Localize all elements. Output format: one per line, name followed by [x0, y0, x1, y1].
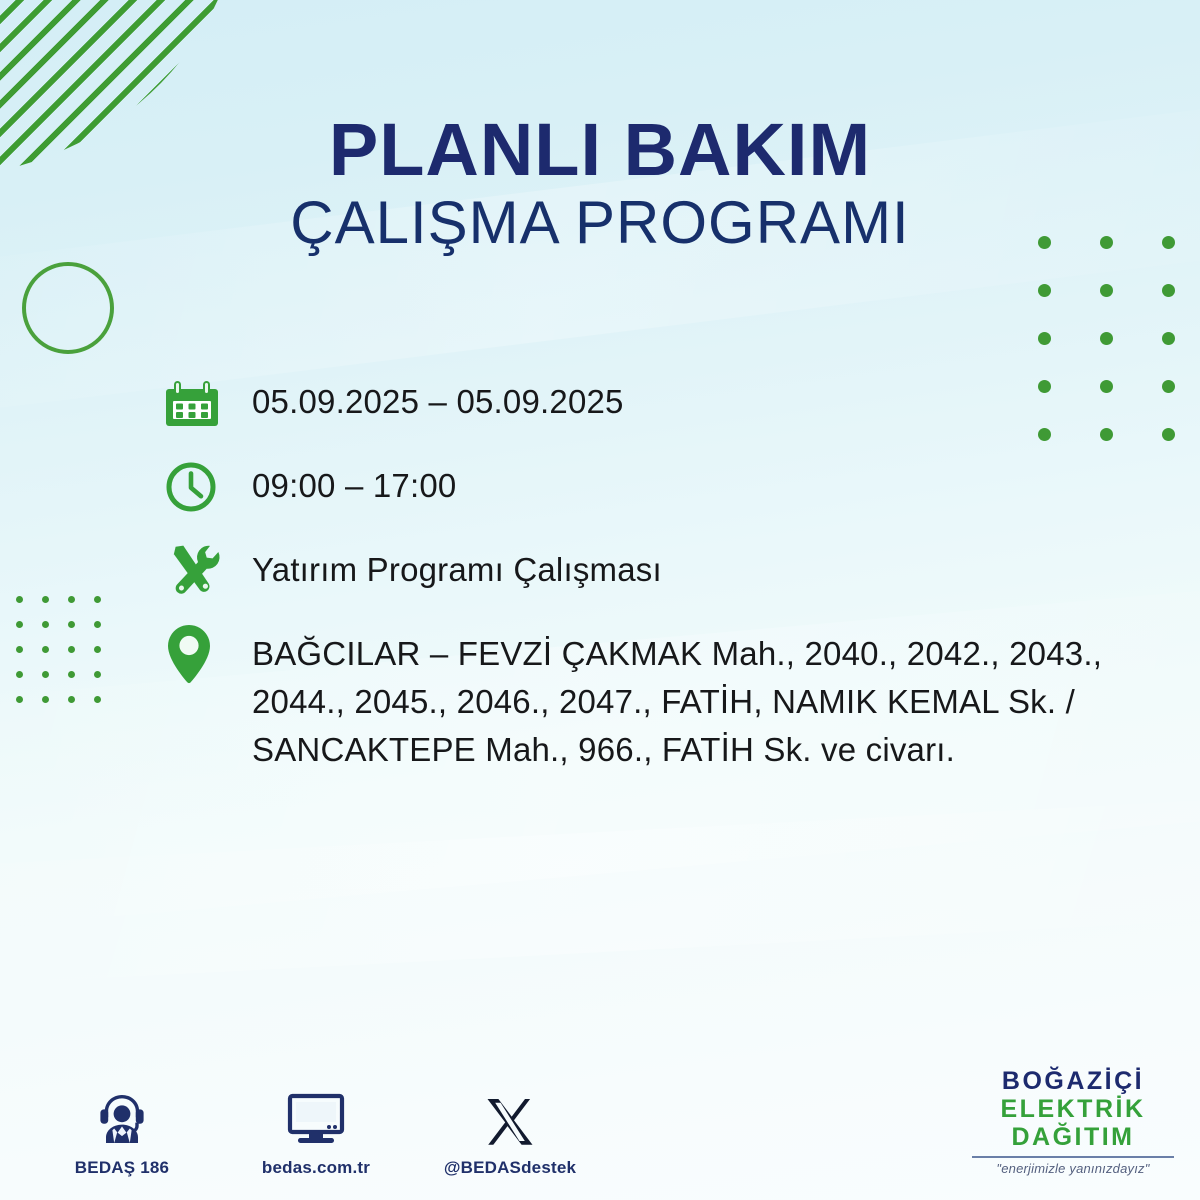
dot: [68, 596, 75, 603]
dot: [1162, 428, 1175, 441]
dot: [94, 596, 101, 603]
brand-line-elektrik: ELEKTRİK: [968, 1095, 1178, 1123]
dot: [94, 696, 101, 703]
dot: [1038, 284, 1051, 297]
brand-line-dagitim: DAĞITIM: [968, 1123, 1178, 1151]
calendar-icon: [164, 372, 252, 434]
info-row-work-type-text: Yatırım Programı Çalışması: [252, 540, 662, 594]
dot: [68, 621, 75, 628]
brand-tagline: "enerjimizle yanınızdayız": [968, 1161, 1178, 1176]
contact-website[interactable]: bedas.com.tr: [246, 1085, 386, 1178]
dot: [94, 646, 101, 653]
dot-grid-left-decoration: [16, 596, 120, 721]
poster-header: PLANLI BAKIM ÇALIŞMA PROGRAMI: [0, 112, 1200, 254]
dot: [42, 696, 49, 703]
dot: [94, 621, 101, 628]
brand-line-bogazici: BOĞAZİÇİ: [968, 1067, 1178, 1095]
info-list: 05.09.2025 – 05.09.2025 09:00 – 17:00: [164, 372, 1154, 796]
dot: [42, 646, 49, 653]
clock-icon: [164, 456, 252, 518]
monitor-icon: [246, 1085, 386, 1149]
info-row-date: 05.09.2025 – 05.09.2025: [164, 372, 1154, 434]
info-row-location-text: BAĞCILAR – FEVZİ ÇAKMAK Mah., 2040., 204…: [252, 624, 1152, 774]
tools-icon: [164, 540, 252, 602]
location-pin-icon: [164, 624, 252, 686]
dot: [16, 671, 23, 678]
contact-call-center[interactable]: BEDAŞ 186: [52, 1085, 192, 1178]
info-row-time: 09:00 – 17:00: [164, 456, 1154, 518]
dot: [42, 621, 49, 628]
contact-call-center-label: BEDAŞ 186: [52, 1158, 192, 1178]
info-row-date-text: 05.09.2025 – 05.09.2025: [252, 372, 624, 426]
contact-x-social[interactable]: @BEDASdestek: [440, 1085, 580, 1178]
dot: [68, 646, 75, 653]
contact-x-social-label: @BEDASdestek: [440, 1158, 580, 1178]
info-row-time-text: 09:00 – 17:00: [252, 456, 456, 510]
contact-website-label: bedas.com.tr: [246, 1158, 386, 1178]
brand-logo: BOĞAZİÇİ ELEKTRİK DAĞITIM "enerjimizle y…: [968, 1067, 1178, 1176]
dot: [42, 596, 49, 603]
dot: [1162, 284, 1175, 297]
dot: [1038, 332, 1051, 345]
dot: [68, 696, 75, 703]
brand-divider: [972, 1156, 1174, 1158]
info-row-work-type: Yatırım Programı Çalışması: [164, 540, 1154, 602]
x-logo-icon: [440, 1085, 580, 1149]
dot: [16, 596, 23, 603]
dot: [1162, 332, 1175, 345]
dot: [16, 646, 23, 653]
page-title: PLANLI BAKIM: [0, 112, 1200, 187]
circle-outline-decoration: [22, 262, 114, 354]
info-row-location: BAĞCILAR – FEVZİ ÇAKMAK Mah., 2040., 204…: [164, 624, 1154, 774]
poster-canvas: PLANLI BAKIM ÇALIŞMA PROGRAMI: [0, 0, 1200, 1200]
dot: [1100, 284, 1113, 297]
dot: [68, 671, 75, 678]
background-sheen-band: [0, 788, 1200, 992]
dot: [42, 671, 49, 678]
page-subtitle: ÇALIŞMA PROGRAMI: [0, 191, 1200, 254]
dot: [1100, 332, 1113, 345]
dot: [16, 696, 23, 703]
dot: [94, 671, 101, 678]
dot: [16, 621, 23, 628]
footer-contact-list: BEDAŞ 186 bedas.com.tr: [52, 1085, 580, 1178]
call-center-agent-icon: [52, 1085, 192, 1149]
dot: [1162, 380, 1175, 393]
